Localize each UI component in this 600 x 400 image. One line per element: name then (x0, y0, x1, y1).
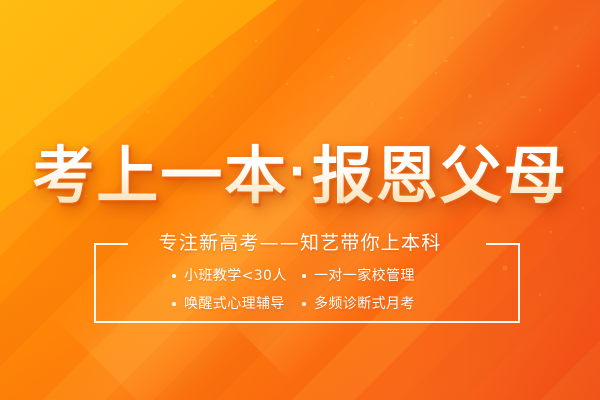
feature-list: 小班教学<30人 一对一家校管理 唤醒式心理辅导 多频诊断式月考 (94, 265, 520, 315)
promo-banner: 考上一本·报恩父母 专注新高考——知艺带你上本科 小班教学<30人 一对一家校管… (0, 0, 600, 400)
feature-item: 唤醒式心理辅导 (172, 293, 302, 315)
banner-content: 考上一本·报恩父母 专注新高考——知艺带你上本科 小班教学<30人 一对一家校管… (0, 0, 600, 400)
bullet-dot-icon (172, 274, 176, 278)
feature-item: 一对一家校管理 (302, 265, 432, 287)
headline-separator-dot: · (288, 144, 311, 198)
headline-part-1: 考上一本 (32, 139, 288, 212)
feature-label: 小班教学<30人 (184, 265, 287, 287)
headline: 考上一本·报恩父母 (0, 136, 600, 211)
bullet-dot-icon (302, 274, 306, 278)
feature-label: 一对一家校管理 (314, 265, 415, 287)
feature-label: 唤醒式心理辅导 (184, 293, 285, 315)
subtitle: 专注新高考——知艺带你上本科 (0, 231, 600, 255)
feature-label: 多频诊断式月考 (314, 293, 415, 315)
bullet-dot-icon (172, 302, 176, 306)
headline-part-2: 报恩父母 (312, 139, 568, 212)
feature-item: 小班教学<30人 (172, 265, 302, 287)
feature-item: 多频诊断式月考 (302, 293, 432, 315)
bullet-dot-icon (302, 302, 306, 306)
